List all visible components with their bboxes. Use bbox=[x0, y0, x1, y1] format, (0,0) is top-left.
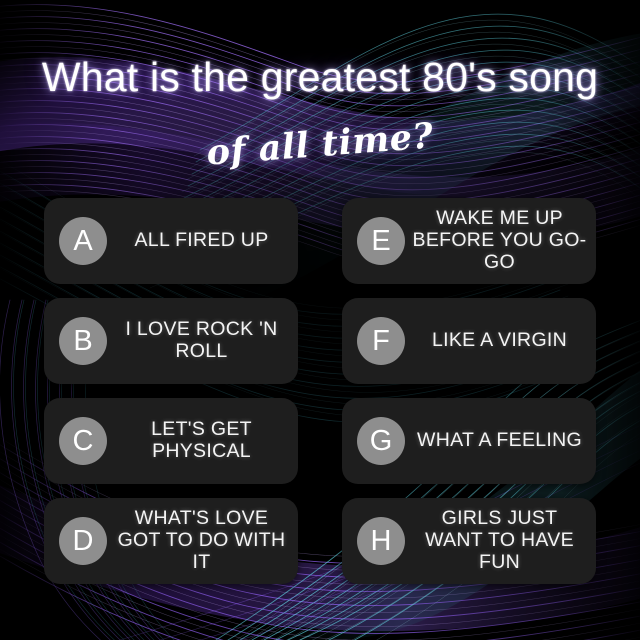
option-label: LIKE A VIRGIN bbox=[405, 330, 596, 352]
answer-option-e[interactable]: E WAKE ME UP BEFORE YOU GO-GO bbox=[342, 198, 596, 284]
answer-option-d[interactable]: D WHAT'S LOVE GOT TO DO WITH IT bbox=[44, 498, 298, 584]
answer-option-g[interactable]: G WHAT A FEELING bbox=[342, 398, 596, 484]
option-label: WHAT A FEELING bbox=[405, 430, 596, 452]
option-label: I LOVE ROCK 'N ROLL bbox=[107, 319, 298, 363]
option-letter-badge: A bbox=[59, 217, 107, 265]
answer-options-grid: A ALL FIRED UP E WAKE ME UP BEFORE YOU G… bbox=[44, 198, 596, 584]
answer-option-c[interactable]: C LET'S GET PHYSICAL bbox=[44, 398, 298, 484]
option-letter-badge: H bbox=[357, 517, 405, 565]
option-letter-badge: G bbox=[357, 417, 405, 465]
option-letter-badge: B bbox=[59, 317, 107, 365]
question-title-line2: of all time? bbox=[0, 100, 640, 190]
option-label: WHAT'S LOVE GOT TO DO WITH IT bbox=[107, 508, 298, 573]
option-letter-badge: C bbox=[59, 417, 107, 465]
question-title-line1: What is the greatest 80's song bbox=[0, 56, 640, 99]
answer-option-h[interactable]: H GIRLS JUST WANT TO HAVE FUN bbox=[342, 498, 596, 584]
option-label: WAKE ME UP BEFORE YOU GO-GO bbox=[405, 208, 596, 273]
option-label: ALL FIRED UP bbox=[107, 230, 298, 252]
answer-option-f[interactable]: F LIKE A VIRGIN bbox=[342, 298, 596, 384]
answer-option-b[interactable]: B I LOVE ROCK 'N ROLL bbox=[44, 298, 298, 384]
option-letter-badge: F bbox=[357, 317, 405, 365]
option-label: LET'S GET PHYSICAL bbox=[107, 419, 298, 463]
option-label: GIRLS JUST WANT TO HAVE FUN bbox=[405, 508, 596, 573]
option-letter-badge: E bbox=[357, 217, 405, 265]
option-letter-badge: D bbox=[59, 517, 107, 565]
question-title: What is the greatest 80's song of all ti… bbox=[0, 0, 640, 190]
answer-option-a[interactable]: A ALL FIRED UP bbox=[44, 198, 298, 284]
quiz-graphic: What is the greatest 80's song of all ti… bbox=[0, 0, 640, 640]
content-layer: What is the greatest 80's song of all ti… bbox=[0, 0, 640, 640]
